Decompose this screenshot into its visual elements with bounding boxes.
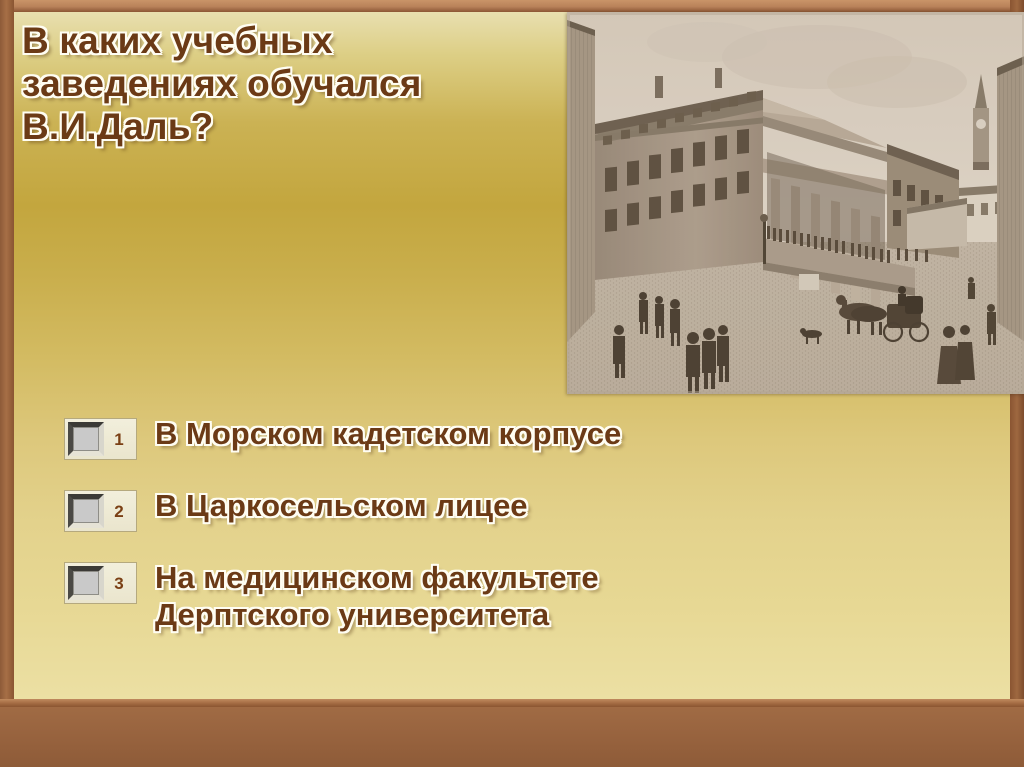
checkbox-box-icon[interactable]: [68, 422, 104, 456]
answer-option-1[interactable]: 1 В Морском кадетском корпусе: [64, 416, 621, 460]
answer-checkbox-1[interactable]: 1: [64, 418, 137, 460]
question-title-line-2: заведениях обучался: [22, 63, 552, 106]
question-title-line-1: В каких учебных: [22, 20, 552, 63]
answer-checkbox-3[interactable]: 3: [64, 562, 137, 604]
checkbox-box-icon[interactable]: [68, 566, 104, 600]
answer-text-3[interactable]: На медицинском факультете Дерптского уни…: [155, 560, 599, 633]
quiz-slide: В каких учебных заведениях обучался В.И.…: [0, 0, 1024, 767]
answer-number-3: 3: [104, 575, 136, 592]
answer-checkbox-2[interactable]: 2: [64, 490, 137, 532]
slide-canvas: В каких учебных заведениях обучался В.И.…: [14, 12, 1010, 703]
question-title-line-3: В.И.Даль?: [22, 106, 552, 149]
answer-number-2: 2: [104, 503, 136, 520]
answer-text-2[interactable]: В Царкосельском лицее: [155, 488, 528, 525]
engraving-image: [567, 12, 1024, 394]
answer-number-1: 1: [104, 431, 136, 448]
frame-top-edge: [0, 0, 1024, 12]
frame-bottom-edge: [0, 699, 1024, 707]
question-title: В каких учебных заведениях обучался В.И.…: [22, 20, 552, 149]
answer-option-3[interactable]: 3 На медицинском факультете Дерптского у…: [64, 560, 599, 633]
frame-left-edge: [0, 0, 14, 703]
checkbox-box-icon[interactable]: [68, 494, 104, 528]
answer-text-1[interactable]: В Морском кадетском корпусе: [155, 416, 621, 453]
answer-option-2[interactable]: 2 В Царкосельском лицее: [64, 488, 528, 532]
question-illustration: [567, 12, 1024, 394]
status-bar: Задание 4 2 бал. Выберите все правильные…: [0, 707, 1024, 767]
